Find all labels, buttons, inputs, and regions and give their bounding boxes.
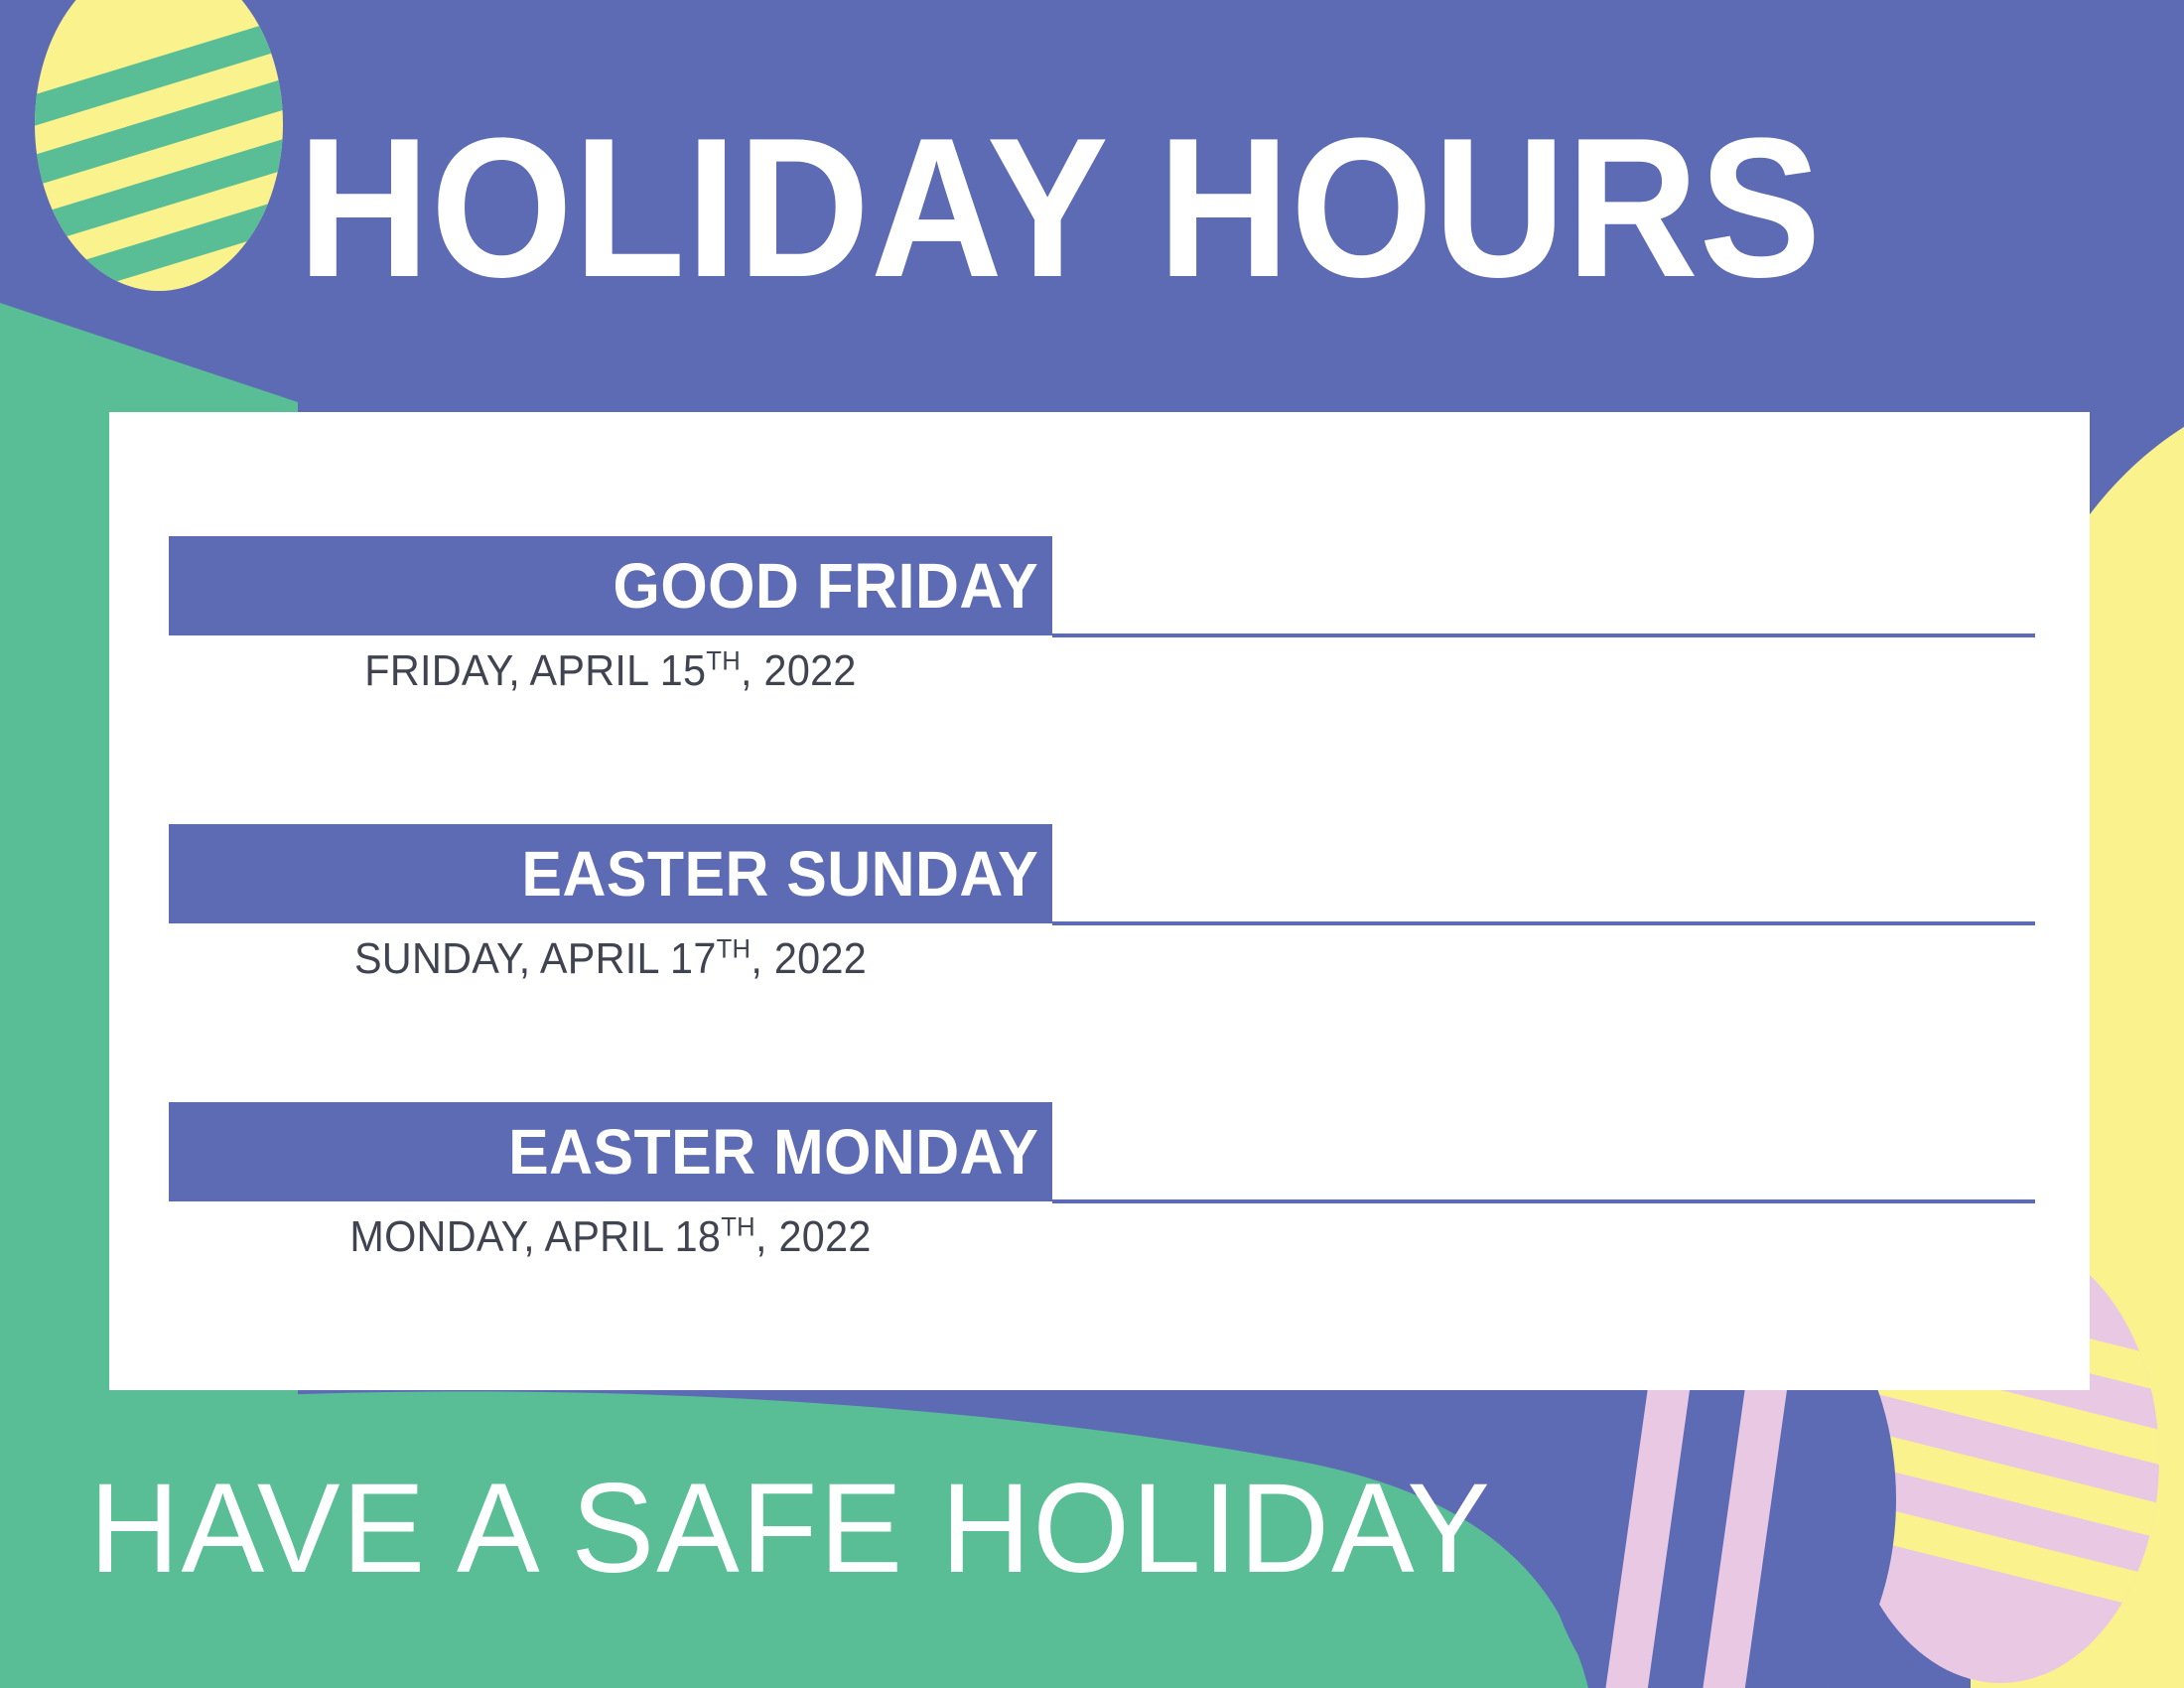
holiday-bar-fill: GOOD FRIDAY (169, 536, 1052, 635)
holiday-name-label: GOOD FRIDAY (613, 554, 1038, 618)
holiday-date: MONDAY, APRIL 18TH, 2022 (196, 1207, 1026, 1267)
footer-message: HAVE A SAFE HOLIDAY (89, 1460, 1549, 1599)
holiday-hours-rule (1052, 1199, 2035, 1203)
holiday-name-label: EASTER MONDAY (508, 1120, 1038, 1184)
holiday-hours-poster: HOLIDAY HOURS GOOD FRIDAY FRIDAY, APRIL … (0, 0, 2184, 1688)
holiday-date-day: FRIDAY, APRIL 15 (364, 646, 706, 695)
holiday-bar: GOOD FRIDAY (169, 536, 1052, 635)
holiday-date-day: SUNDAY, APRIL 17 (354, 934, 717, 983)
holiday-date: FRIDAY, APRIL 15TH, 2022 (196, 641, 1026, 701)
holiday-date-year: , 2022 (751, 934, 867, 983)
holiday-date-year: , 2022 (741, 646, 857, 695)
holiday-date-day: MONDAY, APRIL 18 (349, 1212, 721, 1261)
holiday-date-ordinal: TH (717, 932, 751, 963)
holiday-hours-rule (1052, 633, 2035, 637)
holiday-hours-rule (1052, 921, 2035, 925)
holiday-date-ordinal: TH (721, 1210, 755, 1241)
holiday-bar: EASTER SUNDAY (169, 824, 1052, 923)
holiday-name-label: EASTER SUNDAY (521, 842, 1038, 906)
holiday-date: SUNDAY, APRIL 17TH, 2022 (196, 929, 1026, 989)
page-title: HOLIDAY HOURS (298, 109, 1850, 318)
holiday-bar-fill: EASTER SUNDAY (169, 824, 1052, 923)
holiday-date-ordinal: TH (706, 644, 741, 675)
holiday-date-year: , 2022 (755, 1212, 872, 1261)
holiday-bar-fill: EASTER MONDAY (169, 1102, 1052, 1201)
holiday-bar: EASTER MONDAY (169, 1102, 1052, 1201)
hours-card: GOOD FRIDAY FRIDAY, APRIL 15TH, 2022 EAS… (109, 412, 2090, 1390)
